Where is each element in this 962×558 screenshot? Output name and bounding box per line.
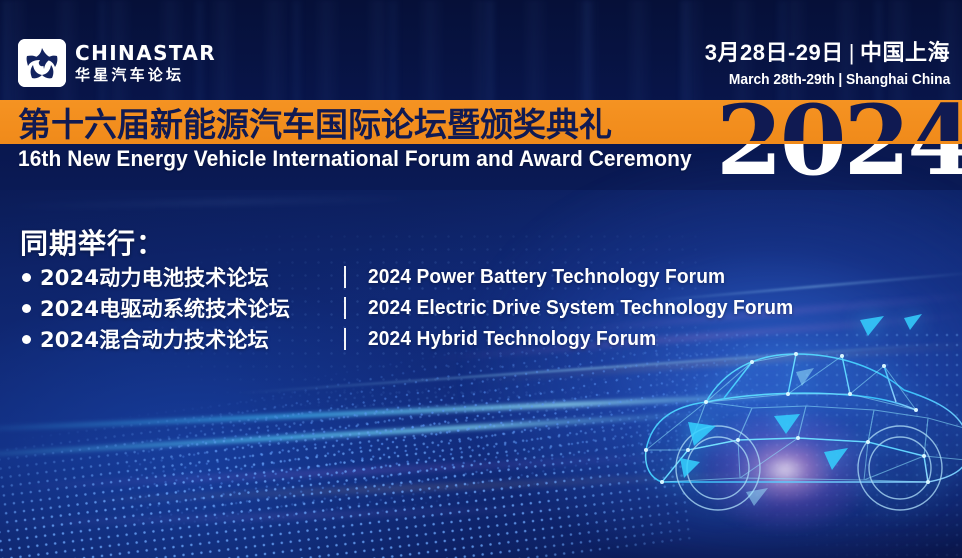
side-event-cn: 2024动力电池技术论坛 — [40, 262, 340, 292]
brand-name-cn: 华星汽车论坛 — [75, 68, 216, 83]
brand-logo-text: CHINASTAR 华星汽车论坛 — [75, 43, 216, 83]
event-date-cn-line: 3月28日-29日|中国上海 — [705, 42, 950, 64]
brand-logo: CHINASTAR 华星汽车论坛 — [18, 39, 216, 87]
side-event-cn: 2024电驱动系统技术论坛 — [40, 293, 340, 323]
event-date-en: March 28th-29th — [729, 71, 835, 88]
list-item: 2024电驱动系统技术论坛 2024 Electric Drive System… — [22, 293, 842, 323]
streak-faint-top — [0, 197, 420, 208]
side-event-en: 2024 Power Battery Technology Forum — [368, 266, 725, 289]
event-location-en: Shanghai China — [846, 71, 950, 88]
bullet-icon — [22, 304, 31, 313]
event-location-cn: 中国上海 — [860, 40, 950, 65]
list-item: 2024动力电池技术论坛 2024 Power Battery Technolo… — [22, 262, 842, 292]
bullet-icon — [22, 273, 31, 282]
side-event-en: 2024 Hybrid Technology Forum — [368, 328, 656, 351]
chinastar-emblem-icon — [18, 39, 66, 87]
date-separator-cn: | — [844, 40, 860, 65]
event-date-en-line: March 28th-29th|Shanghai China — [724, 72, 950, 87]
event-date-location: 3月28日-29日|中国上海 March 28th-29th|Shanghai … — [705, 42, 950, 87]
side-event-cn: 2024混合动力技术论坛 — [40, 324, 340, 354]
divider — [344, 266, 346, 288]
divider — [344, 328, 346, 350]
bullet-icon — [22, 335, 31, 344]
date-separator-en: | — [834, 71, 845, 88]
side-events-list: 2024动力电池技术论坛 2024 Power Battery Technolo… — [22, 262, 842, 355]
event-date-cn: 3月28日-29日 — [705, 40, 844, 65]
side-event-en: 2024 Electric Drive System Technology Fo… — [368, 297, 793, 320]
divider — [344, 297, 346, 319]
main-title-cn: 第十六届新能源汽车国际论坛暨颁奖典礼 — [18, 99, 612, 145]
main-title-en: 16th New Energy Vehicle International Fo… — [18, 146, 692, 172]
conference-banner: CHINASTAR 华星汽车论坛 3月28日-29日|中国上海 March 28… — [0, 0, 962, 558]
brand-name-en: CHINASTAR — [75, 43, 216, 63]
side-events-heading: 同期举行： — [20, 222, 165, 262]
list-item: 2024混合动力技术论坛 2024 Hybrid Technology Foru… — [22, 324, 842, 354]
